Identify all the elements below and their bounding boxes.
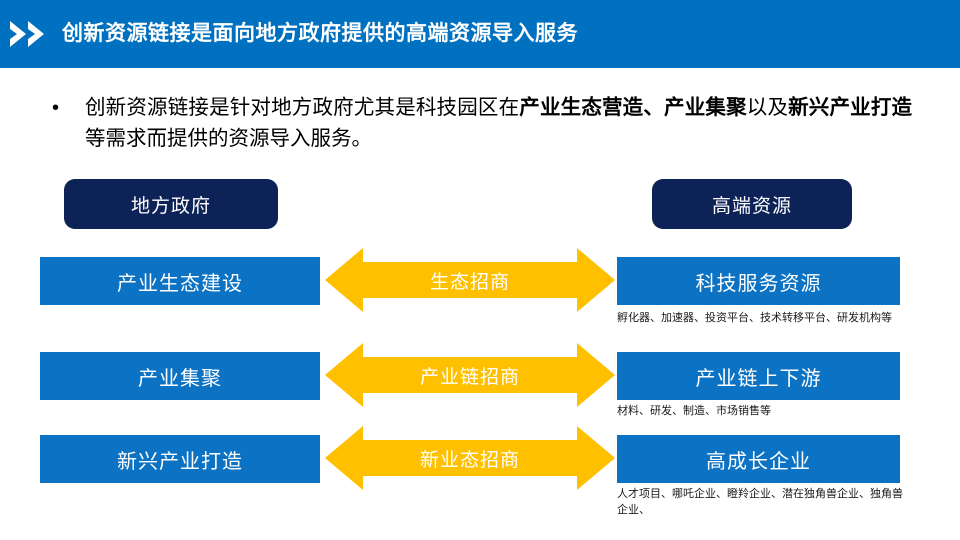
right-box-row-3: 高成长企业 [617,435,900,483]
bidirectional-arrow-row-2: 产业链招商 [325,343,615,407]
slide-header-bar: 创新资源链接是面向地方政府提供的高端资源导入服务 [0,0,960,68]
bullet-emphasis: 产业生态营造、产业集聚 [519,96,746,119]
right-caption-row-3: 人才项目、哪吒企业、瞪羚企业、潜在独角兽企业、独角兽企业、 [617,486,907,518]
left-box-row-3: 新兴产业打造 [40,435,320,483]
right-caption-row-1: 孵化器、加速器、投资平台、技术转移平台、研发机构等 [617,310,907,326]
left-box-row-1: 产业生态建设 [40,257,320,305]
double-chevron-right-icon [8,18,56,50]
bidirectional-arrow-row-3: 新业态招商 [325,426,615,490]
bidirectional-arrow-row-1: 生态招商 [325,248,615,312]
intro-bullet-text: 创新资源链接是针对地方政府尤其是科技园区在产业生态营造、产业集聚以及新兴产业打造… [85,92,912,154]
bullet-emphasis: 新兴产业打造 [788,96,912,119]
bullet-plain: 等需求而提供的资源导入服务。 [85,127,372,150]
local-government-pill: 地方政府 [64,179,278,229]
right-caption-row-2: 材料、研发、制造、市场销售等 [617,403,907,419]
bullet-plain: 创新资源链接是针对地方政府尤其是科技园区在 [85,96,519,119]
right-box-row-1: 科技服务资源 [617,257,900,305]
right-box-row-2: 产业链上下游 [617,352,900,400]
bullet-plain: 以及 [747,96,788,119]
premium-resource-pill: 高端资源 [652,179,852,229]
intro-bullet: • 创新资源链接是针对地方政府尤其是科技园区在产业生态营造、产业集聚以及新兴产业… [52,92,912,154]
left-box-row-2: 产业集聚 [40,352,320,400]
page-title: 创新资源链接是面向地方政府提供的高端资源导入服务 [62,20,578,48]
bullet-marker: • [52,98,59,118]
